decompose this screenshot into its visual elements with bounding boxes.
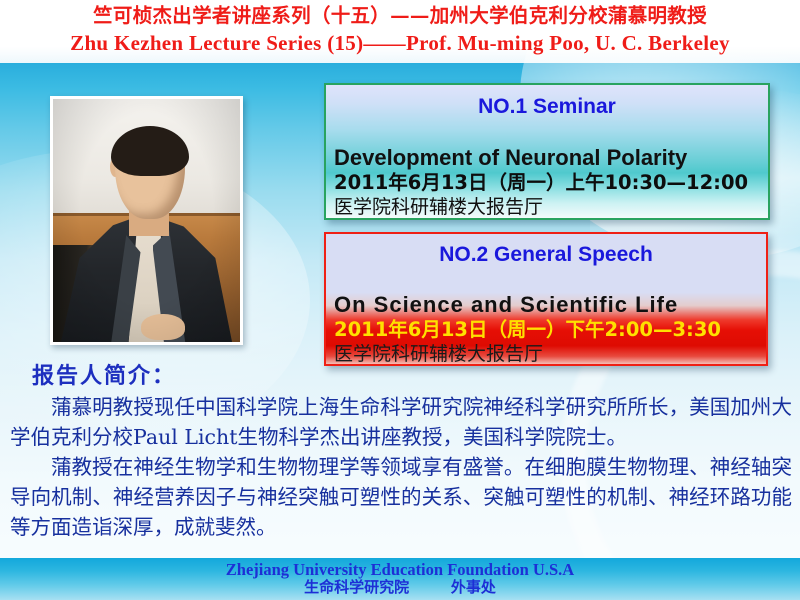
speaker-photo	[53, 99, 240, 342]
poster-canvas: 竺可桢杰出学者讲座系列（十五）——加州大学伯克利分校蒲慕明教授 Zhu Kezh…	[0, 0, 800, 600]
footer-organization-chinese: 生命科学研究院 外事处	[0, 578, 800, 597]
bio-section-body: 蒲慕明教授现任中国科学院上海生命科学研究院神经科学研究所所长，美国加州大学伯克利…	[10, 392, 792, 542]
event-1-venue: 医学院科研辅楼大报告厅	[326, 195, 768, 219]
bio-paragraph-2: 蒲教授在神经生物学和生物物理学等领域享有盛誉。在细胞膜生物物理、神经轴突导向机制…	[10, 452, 792, 542]
event-2-datetime: 2011年6月13日（周一）下午2:00—3:30	[326, 318, 766, 342]
event-2-venue: 医学院科研辅楼大报告厅	[326, 342, 766, 366]
page-title-chinese: 竺可桢杰出学者讲座系列（十五）——加州大学伯克利分校蒲慕明教授	[0, 3, 800, 29]
event-1-topic: Development of Neuronal Polarity	[326, 145, 768, 171]
speaker-photo-frame	[50, 96, 243, 345]
event-2-label: NO.2 General Speech	[326, 243, 766, 267]
event-1-datetime: 2011年6月13日（周一）上午10:30—12:00	[326, 171, 768, 195]
footer-organization-english: Zhejiang University Education Foundation…	[0, 559, 800, 580]
event-1-label: NO.1 Seminar	[326, 95, 768, 119]
page-title-english: Zhu Kezhen Lecture Series (15)——Prof. Mu…	[0, 30, 800, 57]
event-card-2: NO.2 General Speech On Science and Scien…	[324, 232, 768, 366]
event-2-topic: On Science and Scientific Life	[326, 292, 766, 318]
photo-vignette	[53, 99, 240, 342]
bio-paragraph-1: 蒲慕明教授现任中国科学院上海生命科学研究院神经科学研究所所长，美国加州大学伯克利…	[10, 392, 792, 452]
event-card-1: NO.1 Seminar Development of Neuronal Pol…	[324, 83, 770, 220]
bio-section-label: 报告人简介：	[32, 358, 176, 390]
